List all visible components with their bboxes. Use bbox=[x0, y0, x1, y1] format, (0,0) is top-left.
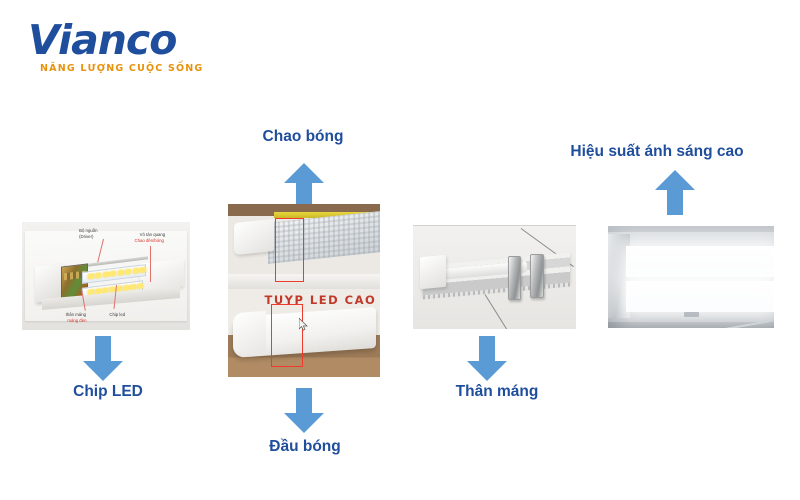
diffuser-cover-photo: TUYP LED CAO bbox=[228, 204, 380, 377]
callout-label-chao-bong: Chao bóng bbox=[253, 128, 353, 146]
mounting-clip bbox=[508, 256, 521, 300]
callout-label-chip-led: Chip LED bbox=[63, 383, 153, 401]
annotation-vo-tan-quang: Vỏ tán quang bbox=[140, 232, 166, 237]
annotation-chip-led: Chip led bbox=[109, 312, 125, 317]
callout-label-than-mang: Thân máng bbox=[447, 383, 547, 401]
annotation-driver: (Driver) bbox=[79, 234, 93, 239]
lit-lamp-lower bbox=[626, 281, 774, 312]
lit-lamp-upper bbox=[626, 246, 774, 277]
annotation-bo-nguon: Bộ nguồn bbox=[79, 228, 97, 233]
callout-label-dau-bong: Đầu bóng bbox=[260, 438, 350, 456]
arrow-down-than-mang bbox=[467, 336, 507, 381]
annotation-than-mang: thân máng bbox=[66, 312, 86, 317]
mouse-cursor bbox=[299, 318, 308, 331]
arrow-up-chao-bong bbox=[284, 163, 324, 208]
logo-tagline: NĂNG LƯỢNG CUỘC SỐNG bbox=[40, 63, 208, 74]
arrow-down-dau-bong bbox=[284, 388, 324, 433]
highlight-box-top bbox=[275, 218, 304, 282]
slide-canvas: Vianco NĂNG LƯỢNG CUỘC SỐNG Chao bóng Hi… bbox=[0, 0, 800, 500]
mounting-clip bbox=[530, 254, 543, 298]
metal-housing-photo bbox=[413, 225, 576, 329]
end-cap bbox=[420, 255, 446, 290]
annotation-chao-den-bong: Chao đèn/bóng bbox=[135, 238, 164, 243]
highlight-box-bottom bbox=[271, 304, 303, 367]
arrow-down-chip-led bbox=[83, 336, 123, 381]
annotation-mang-den: máng đèn bbox=[67, 318, 86, 323]
logo-wordmark: Vianco bbox=[28, 18, 208, 62]
exploded-components-photo: Bộ nguồn (Driver) Vỏ tán quang Chao đèn/… bbox=[22, 222, 190, 330]
lit-fixture-photo bbox=[608, 226, 774, 328]
vianco-logo: Vianco NĂNG LƯỢNG CUỘC SỐNG bbox=[28, 18, 208, 80]
callout-label-hieu-suat: Hiệu suất ánh sáng cao bbox=[557, 143, 757, 161]
diffuser-bottom-photo: TUYP LED CAO bbox=[228, 289, 380, 377]
arrow-up-hieu-suat bbox=[655, 170, 695, 215]
